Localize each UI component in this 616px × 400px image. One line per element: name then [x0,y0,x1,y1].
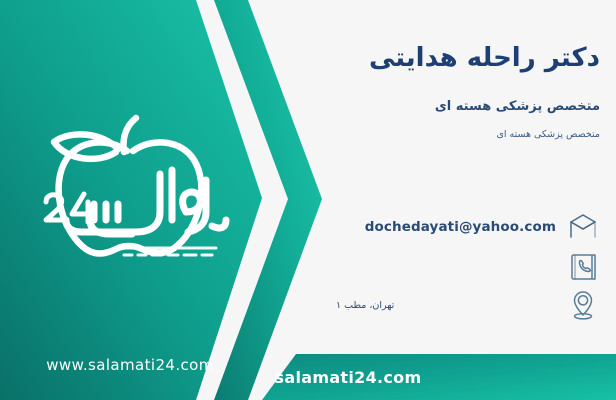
contact-row-phone[interactable] [330,250,600,284]
contact-address-value[interactable]: تهران، مطب ۱ [330,300,556,311]
doctor-specialty: متخصص پزشکی هسته ای [330,98,600,116]
phone-book-icon [566,250,600,284]
contact-email-value[interactable]: dochedayati@yahoo.com [330,219,556,235]
footer-bar: salamati24.com [0,354,616,400]
logo-number-24 [46,194,92,222]
doctor-specialty-secondary: متخصص پزشکی هسته ای [330,128,600,141]
envelope-icon [566,210,600,244]
business-card: www.salamati24.com دکتر راحله هدایتی متخ… [0,0,616,400]
contact-row-email[interactable]: dochedayati@yahoo.com [330,210,600,244]
footer-website[interactable]: salamati24.com [0,354,616,400]
doctor-name: دکتر راحله هدایتی [330,42,600,75]
location-pin-icon [566,288,600,322]
apple-outline-icon [20,108,240,278]
card-content: دکتر راحله هدایتی متخصص پزشکی هسته ای مت… [330,0,600,340]
salamati24-logo: www.salamati24.com [20,108,240,278]
contact-row-address[interactable]: تهران، مطب ۱ [330,288,600,322]
